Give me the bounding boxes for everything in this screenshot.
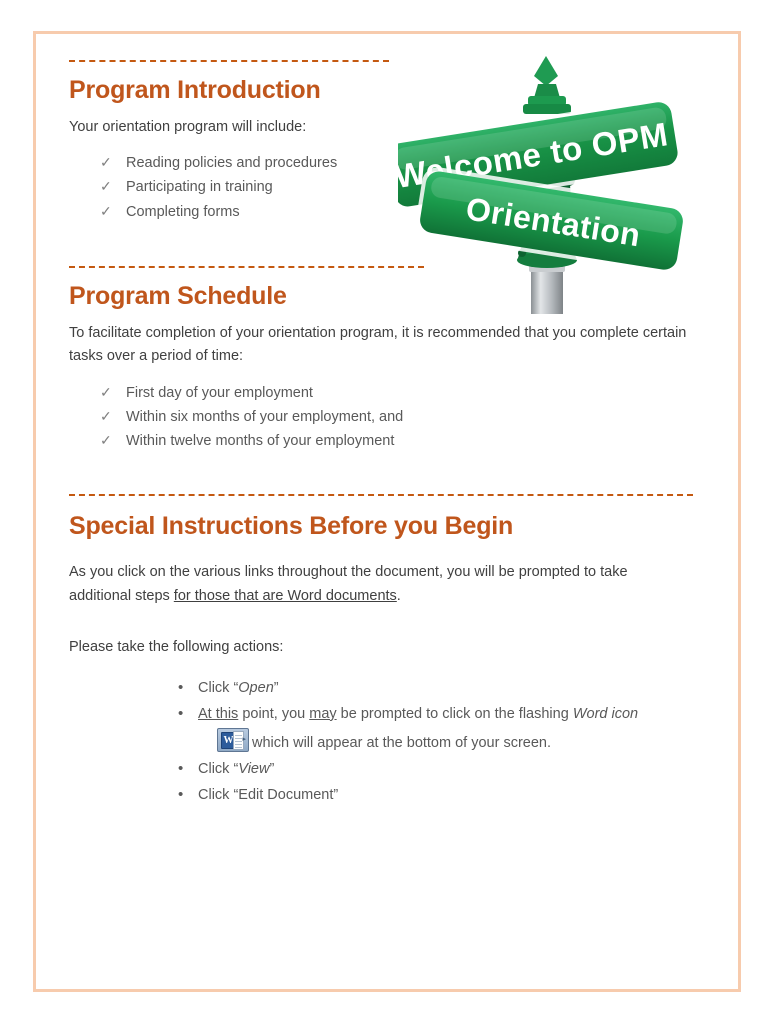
divider-rule-3 <box>69 494 693 496</box>
special-instructions-paragraph: As you click on the various links throug… <box>69 561 693 608</box>
check-icon: ✓ <box>100 405 112 429</box>
action-item-open: •Click “Open” <box>176 676 693 701</box>
schedule-paragraph: To facilitate completion of your orienta… <box>69 322 693 369</box>
paragraph-text-tail: . <box>397 588 401 604</box>
document-content: Program Introduction Your orientation pr… <box>69 60 693 809</box>
action-open-suffix: ” <box>274 680 279 696</box>
list-item-label: Within six months of your employment, an… <box>126 409 403 425</box>
check-icon: ✓ <box>100 200 112 224</box>
list-item-label: Reading policies and procedures <box>126 155 337 171</box>
check-icon: ✓ <box>100 381 112 405</box>
action-item-view: •Click “View” <box>176 757 693 782</box>
action-word-icon-phrase: Word icon <box>573 706 638 722</box>
heading-program-schedule: Program Schedule <box>69 282 693 312</box>
heading-program-introduction: Program Introduction <box>69 76 693 106</box>
bullet-icon: • <box>178 675 183 701</box>
schedule-check-list: ✓ First day of your employment ✓ Within … <box>69 381 693 454</box>
document-page: Welcome to OPM Orientation Program Intro… <box>0 0 770 1024</box>
introduction-check-list: ✓ Reading policies and procedures ✓ Part… <box>69 151 693 224</box>
action-word-underlined-lead: At this <box>198 706 238 722</box>
bullet-icon: • <box>178 782 183 808</box>
list-item-label: First day of your employment <box>126 385 313 401</box>
action-item-edit-document: •Click “Edit Document” <box>176 783 693 808</box>
action-word-mid1: point, you <box>238 706 309 722</box>
heading-special-instructions: Special Instructions Before you Begin <box>69 512 693 542</box>
word-documents-underlined-phrase: for those that are Word documents <box>174 588 397 604</box>
divider-rule-2 <box>69 266 424 268</box>
action-open-keyword: Open <box>238 680 273 696</box>
list-item: ✓ Within twelve months of your employmen… <box>100 429 693 453</box>
list-item: ✓ Within six months of your employment, … <box>100 405 693 429</box>
list-item-label: Completing forms <box>126 204 240 220</box>
action-view-prefix: Click “ <box>198 761 238 777</box>
list-item: ✓ Participating in training <box>100 175 693 199</box>
bullet-icon: • <box>178 756 183 782</box>
action-view-suffix: ” <box>269 761 274 777</box>
action-view-keyword: View <box>238 761 269 777</box>
check-icon: ✓ <box>100 175 112 199</box>
action-edit-document-label: Click “Edit Document” <box>198 787 338 803</box>
intro-paragraph: Your orientation program will include: <box>69 116 693 139</box>
word-taskbar-icon[interactable]: W▸ <box>217 728 249 752</box>
list-item-label: Within twelve months of your employment <box>126 433 394 449</box>
action-word-tail: which will appear at the bottom of your … <box>252 735 551 751</box>
chevron-right-icon: ▸ <box>242 736 246 743</box>
actions-bullet-list: •Click “Open” •At this point, you may be… <box>69 676 693 809</box>
divider-rule-1 <box>69 60 389 62</box>
check-icon: ✓ <box>100 151 112 175</box>
list-item: ✓ Completing forms <box>100 200 693 224</box>
bullet-icon: • <box>178 701 183 727</box>
action-word-underlined-may: may <box>309 706 336 722</box>
list-item: ✓ First day of your employment <box>100 381 693 405</box>
check-icon: ✓ <box>100 429 112 453</box>
list-item: ✓ Reading policies and procedures <box>100 151 693 175</box>
actions-intro: Please take the following actions: <box>69 636 693 659</box>
list-item-label: Participating in training <box>126 179 273 195</box>
action-open-prefix: Click “ <box>198 680 238 696</box>
action-item-word-icon: •At this point, you may be prompted to c… <box>176 702 693 757</box>
action-word-mid2: be prompted to click on the flashing <box>337 706 573 722</box>
